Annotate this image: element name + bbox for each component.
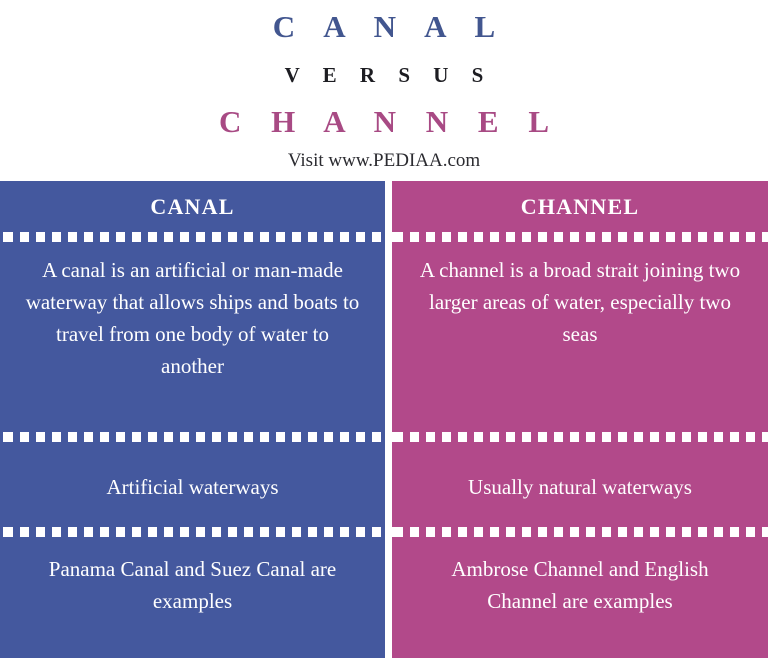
column-header-canal: CANAL [0,181,385,232]
dashed-divider-icon [0,527,385,537]
title-canal: C A N A L [0,8,768,46]
title-versus: V E R S U S [0,62,768,89]
infographic-page: C A N A L V E R S U S C H A N N E L Visi… [0,0,768,658]
dashed-divider-icon [392,527,768,537]
channel-definition-cell: A channel is a broad strait joining two … [392,254,768,350]
infographic-header: C A N A L V E R S U S C H A N N E L Visi… [0,0,768,181]
channel-nature-cell: Usually natural waterways [392,471,768,503]
dashed-divider-icon [0,232,385,242]
title-channel: C H A N N E L [0,103,768,141]
column-header-channel: CHANNEL [392,181,768,232]
dashed-divider-icon [392,432,768,442]
visit-website-line: Visit www.PEDIAA.com [0,149,768,173]
canal-nature-cell: Artificial waterways [0,471,385,503]
canal-examples-cell: Panama Canal and Suez Canal are examples [0,553,385,617]
comparison-column-channel: CHANNEL A channel is a broad strait join… [392,181,768,658]
comparison-column-canal: CANAL A canal is an artificial or man-ma… [0,181,385,658]
channel-examples-cell: Ambrose Channel and English Channel are … [392,553,768,617]
comparison-table: CANAL A canal is an artificial or man-ma… [0,181,768,658]
dashed-divider-icon [0,432,385,442]
dashed-divider-icon [392,232,768,242]
canal-definition-cell: A canal is an artificial or man-made wat… [0,254,385,382]
